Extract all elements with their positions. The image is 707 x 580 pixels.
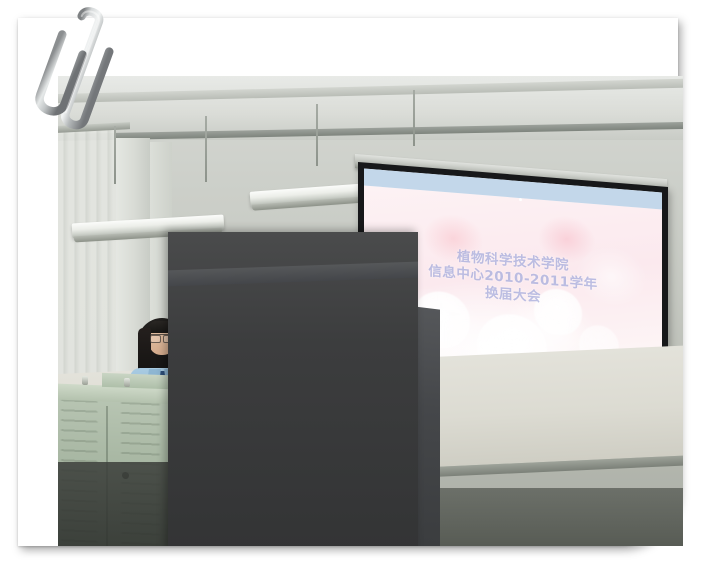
photo-composition: 植物科学技术学院 信息中心2010-2011学年 换届大会 <box>0 0 707 580</box>
lamp-hanger-rod <box>205 116 207 182</box>
classroom-photograph: 植物科学技术学院 信息中心2010-2011学年 换届大会 <box>58 76 683 546</box>
projector-hotspot <box>519 198 522 201</box>
eyeglass-lens-left <box>150 335 161 343</box>
lamp-hanger-rod <box>413 90 415 146</box>
lectern-post <box>82 376 88 385</box>
paperclip-svg <box>28 4 138 144</box>
paperclip-icon <box>28 4 138 144</box>
lectern-post <box>124 378 130 387</box>
lamp-hanger-rod <box>316 104 318 166</box>
